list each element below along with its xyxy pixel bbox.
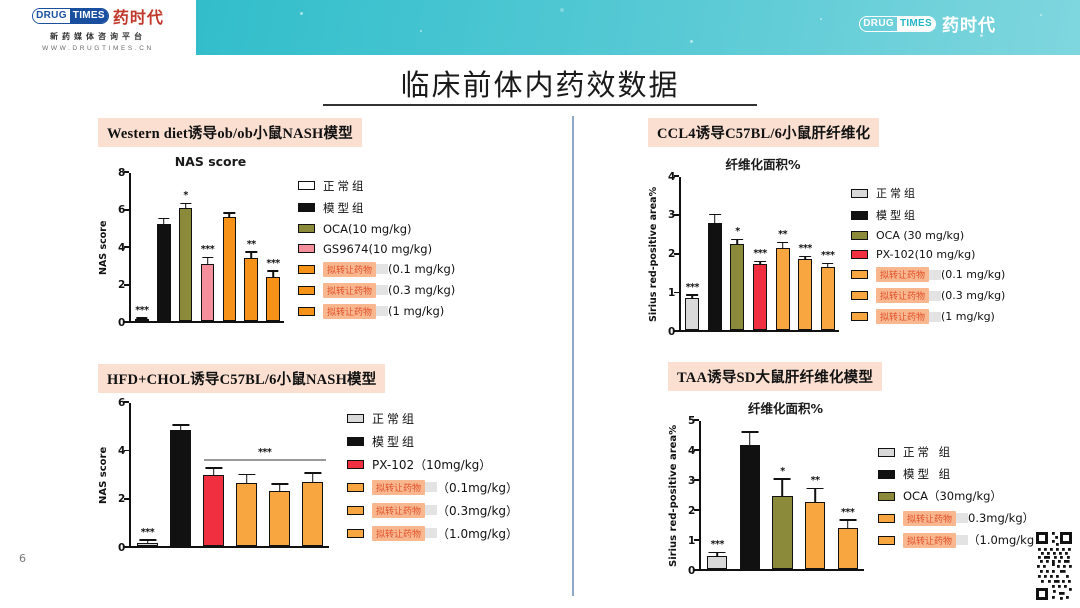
legend-swatch: [851, 211, 868, 220]
legend-swatch: [878, 514, 895, 523]
significance-marker: **: [811, 475, 820, 486]
plot-box: 02468************: [129, 173, 284, 323]
legend-swatch: [347, 460, 364, 469]
bar: [170, 430, 190, 546]
bar-group: ***************: [681, 177, 839, 330]
bar: [821, 267, 835, 330]
blurred-text-block: [956, 513, 968, 523]
chart-plot-area: Sirius red-positive area%01234**********…: [648, 177, 1005, 332]
logo-chinese-name: 药时代: [113, 4, 164, 28]
bar: [730, 244, 744, 330]
y-axis-tick-label: 4: [668, 172, 670, 183]
y-axis-tick-label: 0: [118, 318, 120, 329]
legend-label: 0.3mg/kg）: [968, 510, 1034, 526]
y-axis-tick-label: 0: [118, 543, 120, 554]
error-bar: [272, 272, 274, 277]
bar-slot: [230, 403, 263, 546]
legend-item[interactable]: 正常组: [347, 410, 518, 427]
plot-box: 0246******: [129, 403, 329, 548]
legend-label: 模型 组: [903, 466, 953, 482]
sparkle-dot: [690, 40, 693, 43]
legend-item[interactable]: 拟转让药物（0.1mg/kg）: [347, 479, 518, 496]
sparkle-dot: [420, 30, 422, 32]
legend-item[interactable]: 拟转让药物(0.1 mg/kg): [851, 267, 1005, 282]
error-bar: [847, 521, 849, 528]
bar-slot: ***: [681, 177, 704, 330]
significance-marker: ***: [821, 250, 834, 261]
blurred-text-block: [425, 505, 437, 515]
legend-item[interactable]: 拟转让药物(0.1 mg/kg): [298, 262, 455, 277]
sparkle-dot: [820, 18, 822, 20]
legend-swatch: [851, 250, 868, 259]
redacted-drug-label: 拟转让药物: [876, 267, 929, 282]
error-bar: [250, 253, 252, 259]
legend-swatch: [298, 265, 315, 274]
x-axis-line: [129, 321, 284, 323]
error-bar-cap: [158, 218, 169, 220]
chart-title: Western diet诱导ob/ob小鼠NASH模型: [98, 118, 362, 147]
x-axis-line: [129, 546, 329, 548]
bar: [157, 224, 171, 321]
error-bar: [246, 475, 248, 483]
legend-item[interactable]: OCA（30mg/kg）: [878, 488, 1046, 504]
legend-swatch: [347, 529, 364, 538]
error-bar-cap: [709, 214, 721, 216]
legend-item[interactable]: GS9674(10 mg/kg): [298, 242, 455, 256]
blurred-text-block: [376, 264, 388, 274]
x-axis-line: [679, 330, 839, 332]
bar-slot: [296, 403, 329, 546]
legend-label: (0.3 mg/kg): [388, 283, 455, 297]
plot-box: 012345*********: [699, 421, 864, 571]
chart-subtitle: NAS score: [98, 154, 323, 169]
error-bar-cap: [754, 261, 766, 263]
error-bar-cap: [686, 294, 698, 296]
bar: [753, 264, 767, 330]
significance-marker: ***: [201, 244, 214, 255]
y-axis-tick-label: 8: [118, 168, 120, 179]
y-axis-tick-label: 5: [688, 416, 690, 427]
legend-item[interactable]: 拟转让药物0.3mg/kg）: [878, 510, 1046, 526]
y-axis-tick-label: 4: [118, 446, 120, 457]
legend-label: (0.3 mg/kg): [941, 289, 1005, 302]
bar: [203, 475, 223, 547]
bar: [137, 543, 157, 546]
blurred-text-block: [929, 270, 941, 280]
error-bar-cap: [304, 472, 321, 474]
bar-slot: ***: [131, 173, 153, 321]
y-axis-tick-label: 2: [688, 506, 690, 517]
bar-slot: **: [799, 421, 832, 569]
logo-pill-drug-white: DRUG: [860, 17, 897, 31]
drugtimes-pill-icon-white: DRUG TIMES: [859, 16, 936, 32]
legend-item[interactable]: 拟转让药物（1.0mg/kg）: [347, 525, 518, 542]
chart-legend: 正常组模型组OCA (30 mg/kg)PX-102(10 mg/kg)拟转让药…: [851, 177, 1005, 332]
bar: [740, 445, 760, 569]
y-axis-label: Sirius red-positive area%: [668, 421, 679, 571]
y-axis-tick-label: 1: [668, 288, 670, 299]
legend-swatch: [878, 492, 895, 501]
error-bar-cap: [139, 539, 156, 541]
y-axis-tick-label: 2: [118, 280, 120, 291]
legend-item[interactable]: 正常 组: [878, 444, 1046, 460]
error-bar: [213, 469, 215, 475]
significance-marker: *: [735, 226, 739, 237]
error-bar-cap: [136, 317, 147, 319]
legend-item[interactable]: PX-102(10 mg/kg): [851, 248, 1005, 261]
y-axis-label: NAS score: [98, 173, 109, 323]
legend-item[interactable]: 模型组: [298, 200, 455, 216]
logo-lockup: DRUG TIMES 药时代: [32, 4, 164, 28]
significance-marker: ***: [141, 527, 154, 538]
sparkle-dot: [560, 8, 564, 12]
redacted-drug-label: 拟转让药物: [372, 503, 425, 518]
legend-swatch: [878, 536, 895, 545]
legend-label: (1 mg/kg): [388, 304, 444, 318]
redacted-drug-label: 拟转让药物: [903, 511, 956, 526]
legend-swatch: [851, 270, 868, 279]
bar-slot: **: [771, 177, 794, 330]
bar-slot: [164, 403, 197, 546]
sparkle-dot: [300, 12, 303, 15]
legend-swatch: [878, 448, 895, 457]
bar: [805, 502, 825, 569]
column-divider: [572, 116, 574, 596]
chart-plot-area: NAS score02468************正常组模型组OCA(10 m…: [98, 173, 455, 323]
logo-tagline: 新药媒体咨询平台: [50, 31, 146, 42]
error-bar-cap: [180, 203, 191, 205]
legend-label: 正常组: [876, 185, 918, 201]
error-bar: [759, 262, 761, 264]
logo-chinese-name-white: 药时代: [942, 11, 996, 36]
significance-marker: ***: [686, 282, 699, 293]
legend-label: OCA (30 mg/kg): [876, 229, 964, 242]
redacted-drug-label: 拟转让药物: [876, 288, 929, 303]
bar-slot: ***: [749, 177, 772, 330]
error-bar-cap: [202, 257, 213, 259]
legend-swatch: [298, 224, 315, 233]
bar: [266, 277, 280, 321]
chart-plot-area: Sirius red-positive area%012345*********…: [668, 421, 1046, 571]
bar: [269, 491, 289, 546]
error-bar: [180, 426, 182, 431]
bar-slot: ***: [262, 173, 284, 321]
legend-item[interactable]: 拟转让药物(1 mg/kg): [298, 304, 455, 319]
significance-marker: ***: [711, 539, 724, 550]
error-bar-cap: [267, 270, 278, 272]
y-axis-label: NAS score: [98, 403, 109, 548]
legend-swatch: [347, 483, 364, 492]
significance-marker: ***: [798, 243, 811, 254]
legend-label: 正常 组: [903, 444, 953, 460]
legend-label: 正常组: [323, 178, 367, 194]
error-bar: [141, 319, 143, 320]
significance-marker: ***: [135, 305, 148, 316]
error-bar: [782, 243, 784, 248]
legend-swatch: [851, 189, 868, 198]
blurred-text-block: [425, 528, 437, 538]
significance-marker: ***: [266, 258, 279, 269]
error-bar: [691, 296, 693, 298]
chart-panel-western-diet: Western diet诱导ob/ob小鼠NASH模型NAS scoreNAS …: [98, 118, 455, 323]
bar-slot: [153, 173, 175, 321]
error-bar: [312, 474, 314, 482]
logo-pill-drug: DRUG: [33, 9, 70, 23]
chart-title: HFD+CHOL诱导C57BL/6小鼠NASH模型: [98, 364, 385, 393]
legend-label: （0.3mg/kg）: [437, 502, 518, 519]
error-bar: [207, 258, 209, 264]
bar-slot: ***: [701, 421, 734, 569]
chart-legend: 正常组模型组PX-102（10mg/kg）拟转让药物（0.1mg/kg）拟转让药…: [347, 403, 518, 548]
legend-label: OCA（30mg/kg）: [903, 488, 1002, 504]
error-bar-cap: [172, 424, 189, 426]
legend-swatch: [347, 437, 364, 446]
redacted-drug-label: 拟转让药物: [876, 309, 929, 324]
y-axis-tick-label: 2: [668, 249, 670, 260]
error-bar: [814, 489, 816, 501]
significance-marker: *: [780, 466, 784, 477]
error-bar: [185, 204, 187, 208]
y-axis-tick-label: 6: [118, 205, 120, 216]
group-significance-line: [204, 459, 326, 460]
chart-title: TAA诱导SD大鼠肝纤维化模型: [668, 362, 882, 391]
plot-box: 01234***************: [679, 177, 839, 332]
chart-plot-area: NAS score0246******正常组模型组PX-102（10mg/kg）…: [98, 403, 518, 548]
legend-label: PX-102（10mg/kg）: [372, 456, 491, 473]
bar: [707, 556, 727, 569]
redacted-drug-label: 拟转让药物: [323, 283, 376, 298]
legend-item[interactable]: 模型 组: [878, 466, 1046, 482]
bar: [179, 208, 193, 321]
legend-swatch: [298, 244, 315, 253]
blurred-text-block: [376, 306, 388, 316]
legend-swatch: [347, 506, 364, 515]
error-bar-cap: [246, 251, 257, 253]
logo-pill-times-white: TIMES: [897, 17, 935, 31]
page-number: 6: [19, 552, 26, 565]
error-bar-cap: [774, 478, 791, 480]
error-bar: [147, 541, 149, 543]
chart-panel-hfd-chol: HFD+CHOL诱导C57BL/6小鼠NASH模型NAS score0246**…: [98, 364, 518, 548]
error-bar: [804, 257, 806, 259]
error-bar-cap: [732, 239, 744, 241]
header-banner: DRUG TIMES 药时代 新药媒体咨询平台 WWW.DRUGTIMES.CN…: [0, 0, 1080, 55]
bar: [302, 482, 322, 546]
bar-slot: ***: [197, 173, 219, 321]
legend-label: (1 mg/kg): [941, 310, 995, 323]
bar-slot: *: [175, 173, 197, 321]
legend-label: (0.1 mg/kg): [388, 262, 455, 276]
error-bar: [737, 240, 739, 244]
legend-item[interactable]: 模型组: [347, 433, 518, 450]
y-axis-tick-label: 3: [688, 476, 690, 487]
legend-item[interactable]: 正常组: [298, 178, 455, 194]
chart-legend: 正常 组模型 组OCA（30mg/kg）拟转让药物0.3mg/kg）拟转让药物（…: [878, 421, 1046, 571]
error-bar: [827, 264, 829, 267]
error-bar-cap: [822, 263, 834, 265]
chart-title: CCL4诱导C57BL/6小鼠肝纤维化: [648, 118, 879, 147]
bar: [772, 496, 792, 569]
group-significance-marker: ***: [258, 447, 271, 458]
y-axis-tick-label: 3: [668, 210, 670, 221]
bar: [201, 264, 215, 321]
y-axis-tick-label: 0: [688, 566, 690, 577]
blurred-text-block: [929, 312, 941, 322]
error-bar: [749, 433, 751, 445]
drugtimes-pill-icon: DRUG TIMES: [32, 8, 109, 24]
x-axis-line: [699, 569, 864, 571]
legend-label: 模型组: [876, 207, 918, 223]
bar: [798, 259, 812, 330]
bar: [244, 258, 258, 321]
bar-slot: **: [240, 173, 262, 321]
y-axis-tick-label: 0: [668, 327, 670, 338]
legend-label: PX-102(10 mg/kg): [876, 248, 975, 261]
error-bar-cap: [807, 488, 824, 490]
legend-item[interactable]: 拟转让药物(1 mg/kg): [851, 309, 1005, 324]
significance-marker: *: [183, 190, 187, 201]
bar-slot: *: [766, 421, 799, 569]
page-title: 临床前体内药效数据: [0, 62, 1080, 104]
y-axis-tick-label: 4: [688, 446, 690, 457]
bar-slot: [734, 421, 767, 569]
error-bar-cap: [777, 242, 789, 244]
chart-panel-ccl4: CCL4诱导C57BL/6小鼠肝纤维化纤维化面积%Sirius red-posi…: [648, 118, 1005, 332]
error-bar: [163, 219, 165, 224]
bar: [236, 483, 256, 546]
sparkle-dot: [1040, 14, 1042, 16]
redacted-drug-label: 拟转让药物: [903, 533, 956, 548]
legend-label: OCA(10 mg/kg): [323, 222, 412, 236]
blurred-text-block: [956, 535, 968, 545]
bar-group: ***: [131, 403, 329, 546]
chart-panel-taa: TAA诱导SD大鼠肝纤维化模型纤维化面积%Sirius red-positive…: [668, 362, 1046, 571]
error-bar: [717, 553, 719, 555]
significance-marker: ***: [753, 248, 766, 259]
bar: [776, 248, 790, 330]
y-axis-label: Sirius red-positive area%: [648, 177, 659, 332]
legend-swatch: [878, 470, 895, 479]
drugtimes-logo-right: DRUG TIMES 药时代: [859, 11, 996, 36]
blurred-text-block: [929, 291, 941, 301]
legend-item[interactable]: OCA (30 mg/kg): [851, 229, 1005, 242]
bar-slot: ***: [794, 177, 817, 330]
bar-slot: ***: [831, 421, 864, 569]
title-underline: [323, 104, 757, 106]
legend-item[interactable]: 拟转让药物(0.3 mg/kg): [851, 288, 1005, 303]
error-bar: [229, 214, 231, 218]
bar: [685, 298, 699, 331]
bar: [223, 217, 237, 321]
legend-swatch: [298, 307, 315, 316]
blurred-text-block: [425, 482, 437, 492]
legend-swatch: [298, 181, 315, 190]
drugtimes-logo-left: DRUG TIMES 药时代 新药媒体咨询平台 WWW.DRUGTIMES.CN: [0, 0, 196, 55]
error-bar-cap: [839, 519, 856, 521]
redacted-drug-label: 拟转让药物: [372, 480, 425, 495]
redacted-drug-label: 拟转让药物: [372, 526, 425, 541]
error-bar-cap: [205, 467, 222, 469]
bar-slot: [197, 403, 230, 546]
significance-marker: **: [778, 229, 787, 240]
legend-swatch: [347, 414, 364, 423]
error-bar-cap: [224, 212, 235, 214]
legend-item[interactable]: PX-102（10mg/kg）: [347, 456, 518, 473]
legend-label: 模型组: [323, 200, 367, 216]
error-bar-cap: [741, 431, 758, 433]
legend-item[interactable]: OCA(10 mg/kg): [298, 222, 455, 236]
legend-swatch: [851, 291, 868, 300]
legend-item[interactable]: 拟转让药物（1.0mg/kg）: [878, 532, 1046, 548]
legend-swatch: [298, 286, 315, 295]
error-bar-cap: [271, 483, 288, 485]
chart-legend: 正常组模型组OCA(10 mg/kg)GS9674(10 mg/kg)拟转让药物…: [298, 173, 455, 323]
significance-marker: ***: [841, 507, 854, 518]
blurred-text-block: [376, 285, 388, 295]
y-axis-tick-label: 1: [688, 536, 690, 547]
bar-group: ************: [131, 173, 284, 321]
error-bar-cap: [709, 552, 726, 554]
legend-label: 模型组: [372, 433, 417, 450]
legend-swatch: [298, 203, 315, 212]
error-bar: [279, 485, 281, 492]
bar-slot: ***: [816, 177, 839, 330]
bar-slot: [263, 403, 296, 546]
y-axis-tick-label: 4: [118, 243, 120, 254]
legend-item[interactable]: 正常组: [851, 185, 1005, 201]
legend-label: (0.1 mg/kg): [941, 268, 1005, 281]
chart-subtitle: 纤维化面积%: [648, 154, 878, 173]
legend-item[interactable]: 模型组: [851, 207, 1005, 223]
legend-label: 正常组: [372, 410, 417, 427]
legend-swatch: [851, 312, 868, 321]
legend-label: （0.1mg/kg）: [437, 479, 518, 496]
chart-subtitle: 纤维化面积%: [668, 398, 903, 417]
logo-website: WWW.DRUGTIMES.CN: [42, 45, 154, 52]
legend-label: GS9674(10 mg/kg): [323, 242, 432, 256]
error-bar: [782, 480, 784, 496]
logo-pill-times: TIMES: [70, 9, 108, 23]
error-bar-cap: [238, 474, 255, 476]
error-bar: [714, 215, 716, 223]
bar-slot: *: [726, 177, 749, 330]
significance-marker: **: [247, 239, 256, 250]
bar: [838, 528, 858, 569]
bar: [708, 223, 722, 330]
bar-slot: ***: [131, 403, 164, 546]
y-axis-tick-label: 2: [118, 494, 120, 505]
redacted-drug-label: 拟转让药物: [323, 262, 376, 277]
redacted-drug-label: 拟转让药物: [323, 304, 376, 319]
bar-group: *********: [701, 421, 864, 569]
qr-code-icon: [1034, 530, 1074, 602]
legend-item[interactable]: 拟转让药物（0.3mg/kg）: [347, 502, 518, 519]
bar-slot: [704, 177, 727, 330]
legend-swatch: [851, 231, 868, 240]
bar-slot: [218, 173, 240, 321]
legend-label: （1.0mg/kg）: [437, 525, 518, 542]
legend-item[interactable]: 拟转让药物(0.3 mg/kg): [298, 283, 455, 298]
error-bar-cap: [799, 256, 811, 258]
y-axis-tick-label: 6: [118, 398, 120, 409]
